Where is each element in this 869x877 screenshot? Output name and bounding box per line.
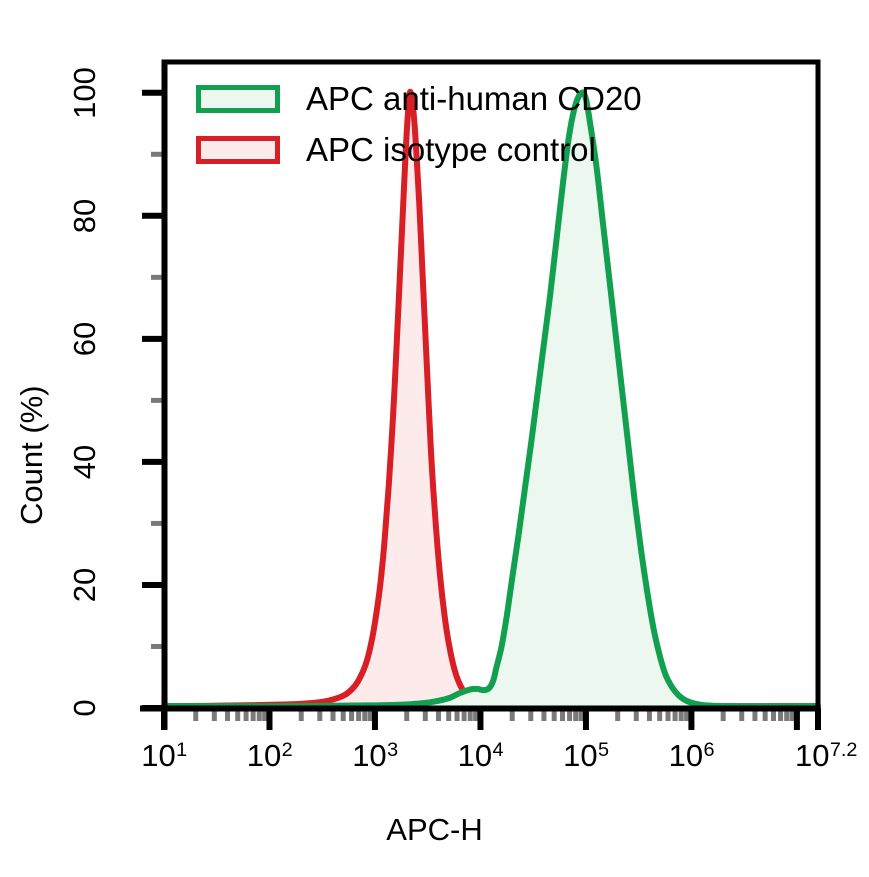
y-tick-label: 40 [67, 417, 103, 507]
y-tick-label: 20 [67, 540, 103, 630]
x-tick-exponent: 5 [598, 739, 609, 761]
y-axis-title: Count (%) [14, 385, 50, 525]
x-tick-mantissa: 10 [352, 738, 386, 773]
flow-cytometry-histogram-figure: Count (%) APC-H 020406080100 10110210310… [0, 0, 869, 877]
x-tick-label: 106 [621, 738, 761, 774]
x-tick-mantissa: 10 [669, 738, 703, 773]
x-axis-title: APC-H [0, 812, 869, 848]
x-tick-exponent: 7.2 [830, 739, 858, 761]
x-tick-mantissa: 10 [141, 738, 175, 773]
x-tick-exponent: 2 [282, 739, 293, 761]
legend-label-apc-isotype-control: APC isotype control [306, 133, 596, 166]
x-tick-exponent: 1 [176, 739, 187, 761]
x-tick-label: 107.2 [756, 738, 869, 774]
x-tick-mantissa: 10 [247, 738, 281, 773]
legend-swatch-green [196, 85, 280, 113]
legend-swatch-red [196, 136, 280, 164]
x-tick-exponent: 6 [704, 739, 715, 761]
x-tick-exponent: 3 [387, 739, 398, 761]
y-tick-label: 80 [67, 171, 103, 261]
legend-label-apc-anti-human-cd20: APC anti-human CD20 [306, 82, 642, 115]
x-tick-mantissa: 10 [795, 738, 829, 773]
x-tick-mantissa: 10 [458, 738, 492, 773]
y-axis-ticks [142, 93, 164, 708]
x-tick-mantissa: 10 [563, 738, 597, 773]
y-tick-label: 100 [67, 48, 103, 138]
x-tick-exponent: 4 [493, 739, 504, 761]
legend-entry-apc-isotype-control[interactable]: APC isotype control [196, 133, 596, 166]
legend-entry-apc-anti-human-cd20[interactable]: APC anti-human CD20 [196, 82, 642, 115]
y-tick-label: 60 [67, 294, 103, 384]
